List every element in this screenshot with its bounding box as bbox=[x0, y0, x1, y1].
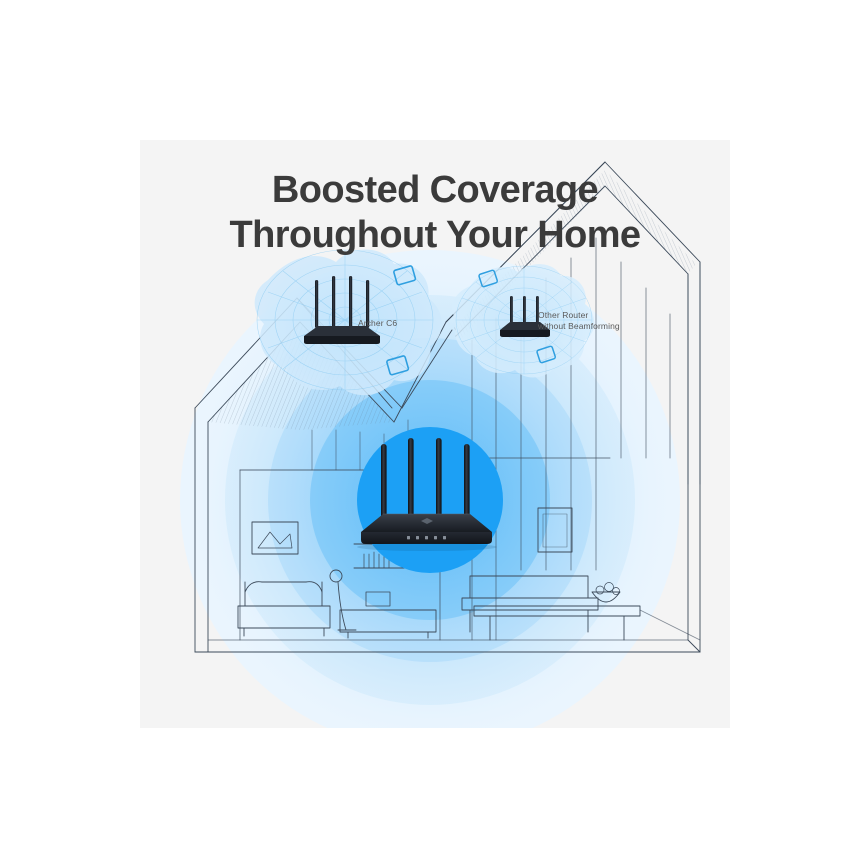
page-title: Boosted Coverage Throughout Your Home bbox=[140, 168, 730, 258]
sm-router-front bbox=[304, 336, 380, 344]
comparison-left-archer bbox=[255, 249, 442, 395]
product-feature-panel: Boosted Coverage Throughout Your Home Ar… bbox=[140, 140, 730, 728]
other-antenna-2 bbox=[523, 296, 526, 324]
screenshot-root: Boosted Coverage Throughout Your Home Ar… bbox=[0, 0, 868, 868]
sm-antenna-1 bbox=[315, 280, 318, 328]
other-router-label: Other Router without Beamforming bbox=[538, 310, 620, 332]
archer-coverage-grid bbox=[257, 250, 433, 390]
sm-antenna-3 bbox=[349, 276, 352, 328]
other-antenna-1 bbox=[510, 296, 513, 324]
sm-antenna-2 bbox=[332, 276, 335, 328]
archer-c6-label: Archer C6 bbox=[358, 318, 397, 329]
